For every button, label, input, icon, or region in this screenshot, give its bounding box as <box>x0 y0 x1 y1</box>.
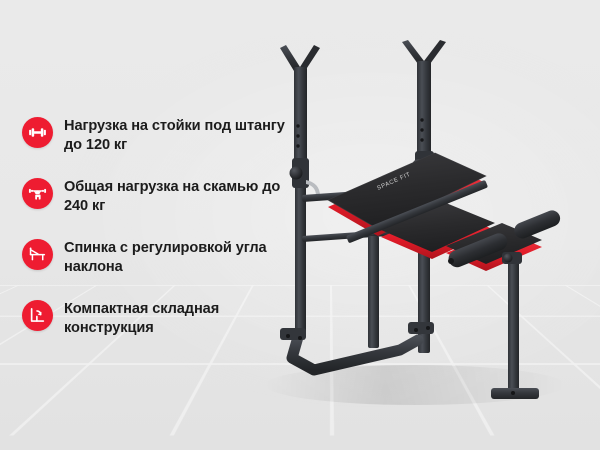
feature-item-rack-load: Нагрузка на стойки под штангу до 120 кг <box>22 116 300 154</box>
barbell-icon <box>22 117 53 148</box>
adjustable-backrest-icon <box>22 239 53 270</box>
folding-icon <box>22 300 53 331</box>
feature-label: Общая нагрузка на скамью до 240 кг <box>64 177 300 215</box>
feature-item-folding: Компактная складная конструкция <box>22 299 300 337</box>
feature-label: Нагрузка на стойки под штангу до 120 кг <box>64 116 300 154</box>
feature-label: Спинка с регулировкой угла наклона <box>64 238 300 276</box>
feature-item-total-load: Общая нагрузка на скамью до 240 кг <box>22 177 300 215</box>
feature-label: Компактная складная конструкция <box>64 299 300 337</box>
product-image: SPACE FIT <box>250 40 600 440</box>
feature-list: Нагрузка на стойки под штангу до 120 кг … <box>22 116 300 360</box>
lifter-icon <box>22 178 53 209</box>
feature-item-adjustable-backrest: Спинка с регулировкой угла наклона <box>22 238 300 276</box>
base-frame <box>292 337 418 370</box>
